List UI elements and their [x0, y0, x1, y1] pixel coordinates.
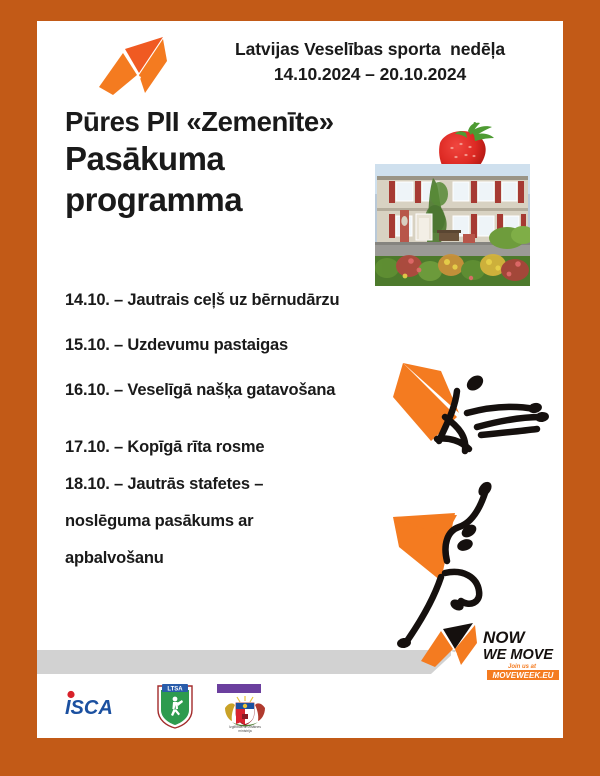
nwm-line1: NOW [483, 628, 527, 647]
izm-ministry-logo-icon: Izglītības un zinātnes ministrija [209, 682, 281, 734]
svg-text:ISCA: ISCA [65, 697, 113, 718]
izm-label-line2: ministrija [238, 729, 251, 733]
header-title: Latvijas Veselības sporta nedēļa 14.10.2… [177, 37, 563, 87]
athlete-figure-running-icon [385, 351, 557, 469]
page-title: Pūres PII «Zemenīte» Pasākuma programma [65, 107, 425, 221]
page-title-line1: Pūres PII «Zemenīte» [65, 107, 425, 138]
list-item: 14.10. – Jautrais ceļš uz bērnudārzu [65, 291, 485, 310]
nowwemove-arrow-icon [421, 623, 477, 667]
ltsa-shield-logo-icon: LTSA [155, 682, 195, 730]
footer-partner-logos: ISCA LTSA [51, 676, 311, 734]
header: Latvijas Veselības sporta nedēļa 14.10.2… [37, 31, 563, 105]
page-title-line2: Pasākuma [65, 138, 425, 180]
header-title-line1: Latvijas Veselības sporta nedēļa [235, 39, 505, 59]
nowwemove-arrow-logo-icon [97, 35, 173, 97]
ltsa-label: LTSA [167, 687, 183, 693]
isca-logo-icon: ISCA [63, 690, 139, 718]
header-title-line2: 14.10.2024 – 20.10.2024 [274, 64, 466, 84]
poster-root: Latvijas Veselības sporta nedēļa 14.10.2… [0, 0, 600, 776]
kindergarten-building-photo [375, 164, 530, 286]
nwm-url-label: MOVEWEEK.EU [493, 671, 554, 680]
nwm-join-label: Join us at [508, 664, 537, 670]
nowwemove-footer-logo: NOW WE MOVE Join us at MOVEWEEK.EU [417, 621, 563, 683]
page-title-line3: programma [65, 179, 425, 221]
nwm-line2: WE MOVE [483, 647, 554, 663]
poster-page: Latvijas Veselības sporta nedēļa 14.10.2… [37, 21, 563, 738]
